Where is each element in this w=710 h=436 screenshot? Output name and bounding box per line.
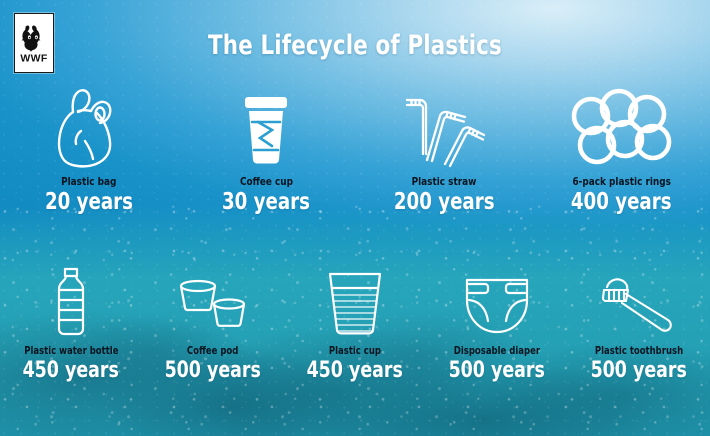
six-pack-rings-icon [569, 88, 673, 168]
item-label: Plastic bag [61, 175, 116, 188]
lifecycle-row-top: Plastic bag 20 years Coffee cup [0, 88, 710, 215]
item-value: 200 years [393, 189, 494, 215]
infographic-poster: WWF The Lifecycle of Plastics [0, 0, 710, 436]
item-label: 6-pack plastic rings [572, 175, 670, 188]
coffee-pod-icon [174, 268, 252, 338]
toothbrush-icon [595, 268, 683, 338]
item-label: Plastic cup [329, 345, 381, 357]
lifecycle-item-six-pack-rings: 6-pack plastic rings 400 years [533, 88, 710, 215]
lifecycle-item-coffee-pod: Coffee pod 500 years [142, 268, 284, 383]
lifecycle-item-plastic-straw: Plastic straw 200 years [355, 88, 533, 215]
poster-title: The Lifecycle of Plastics [43, 30, 668, 61]
plastic-straw-icon [399, 88, 489, 168]
disposable-diaper-icon [460, 268, 534, 338]
lifecycle-item-water-bottle: Plastic water bottle 450 years [0, 268, 142, 383]
item-value: 500 years [591, 358, 687, 383]
item-value: 30 years [222, 189, 310, 215]
lifecycle-item-toothbrush: Plastic toothbrush 500 years [568, 268, 710, 383]
lifecycle-row-bottom: Plastic water bottle 450 years Coffee po… [0, 268, 710, 383]
item-label: Disposable diaper [454, 345, 540, 357]
coffee-cup-icon [236, 88, 296, 168]
lifecycle-item-coffee-cup: Coffee cup 30 years [178, 88, 356, 215]
water-bottle-icon [48, 268, 94, 338]
item-value: 400 years [571, 189, 672, 215]
item-value: 500 years [165, 358, 261, 383]
plastic-bag-icon [51, 88, 127, 168]
item-label: Plastic toothbrush [595, 345, 683, 357]
item-label: Plastic straw [411, 175, 476, 188]
item-label: Coffee cup [240, 175, 293, 188]
item-value: 450 years [23, 358, 119, 383]
lifecycle-item-plastic-cup: Plastic cup 450 years [284, 268, 426, 383]
item-label: Coffee pod [187, 345, 238, 357]
plastic-cup-icon [326, 268, 384, 338]
item-label: Plastic water bottle [24, 345, 118, 357]
lifecycle-item-plastic-bag: Plastic bag 20 years [0, 88, 178, 215]
item-value: 450 years [307, 358, 403, 383]
item-value: 500 years [449, 358, 545, 383]
lifecycle-item-disposable-diaper: Disposable diaper 500 years [426, 268, 568, 383]
item-value: 20 years [45, 189, 133, 215]
